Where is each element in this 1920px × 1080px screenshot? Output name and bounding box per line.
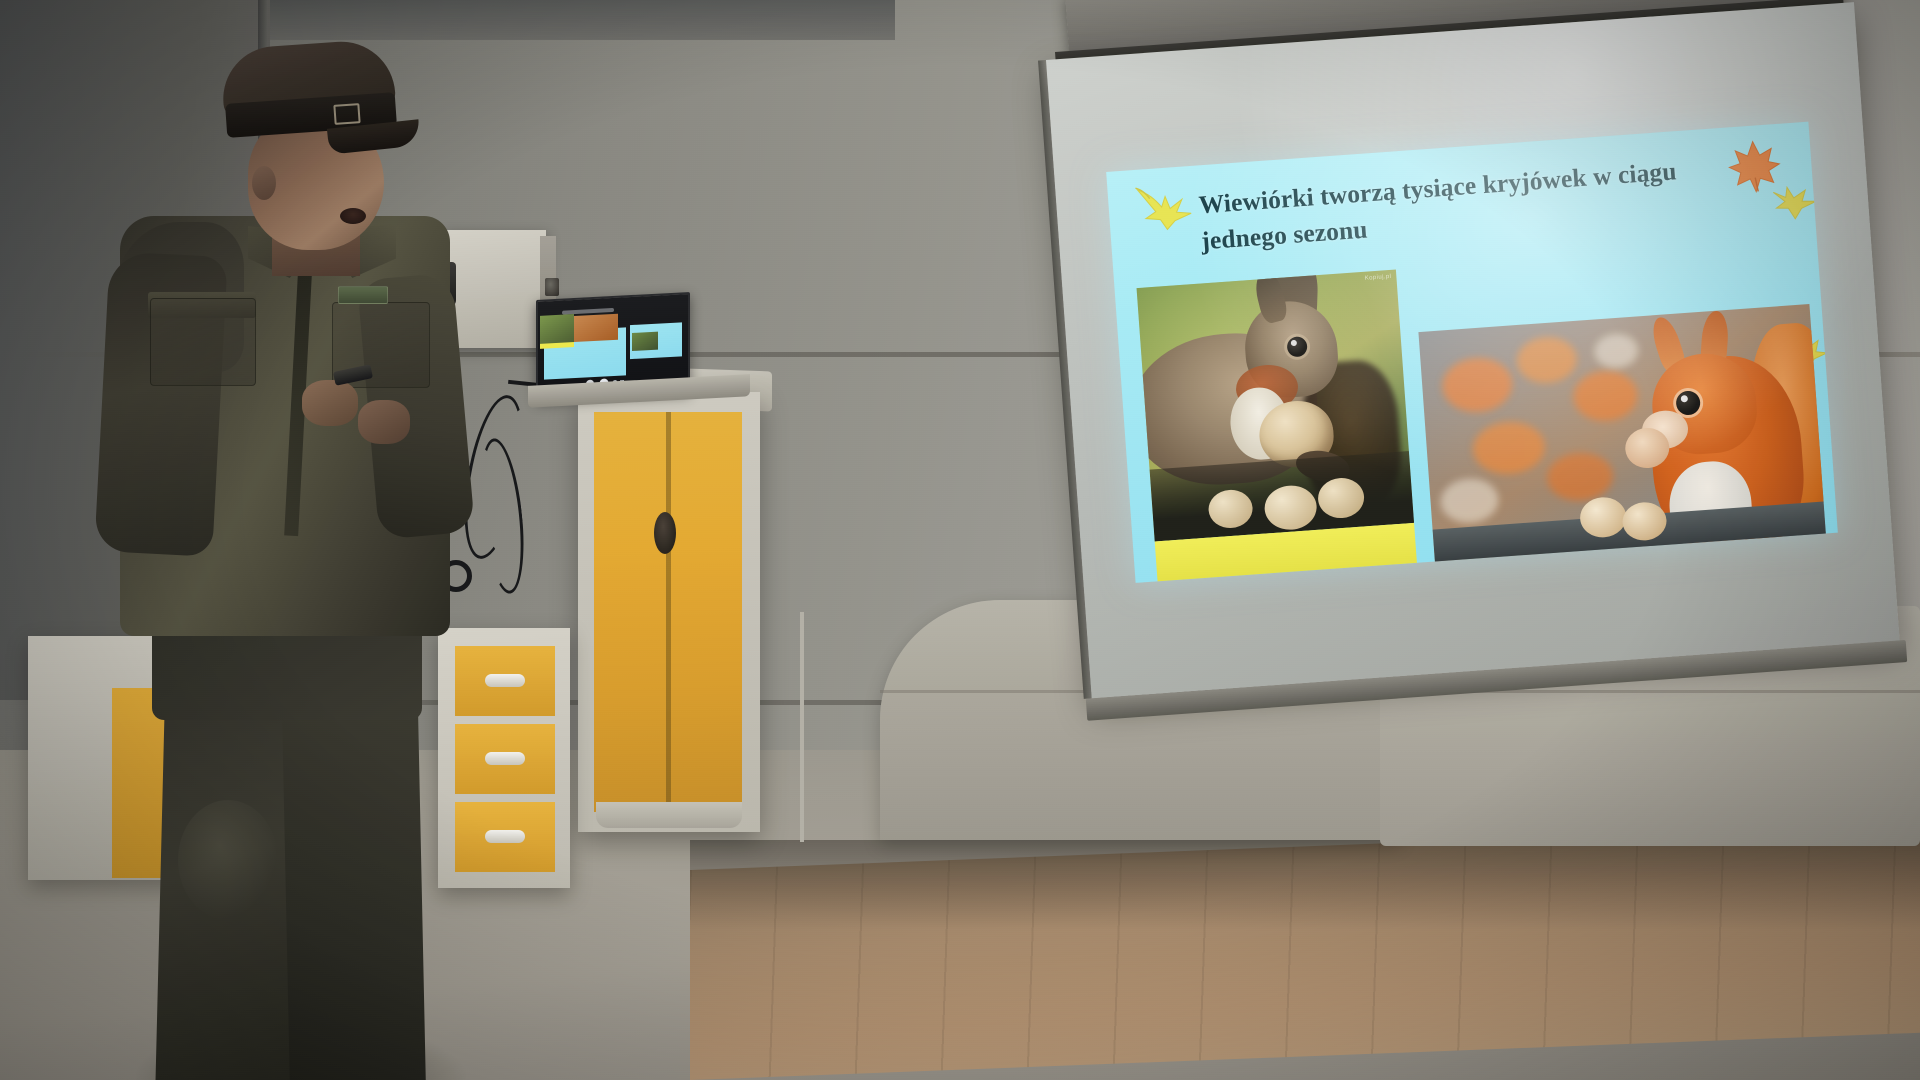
photo2-bokeh-a — [1440, 356, 1514, 415]
laptop-next-slide-photo — [632, 332, 658, 351]
wall-cable-conduit — [800, 612, 974, 842]
photo2-bokeh-d — [1471, 419, 1547, 476]
ceiling-hatch — [255, 0, 895, 40]
slide-photo-red-squirrel-autumn — [1418, 304, 1826, 573]
cabinet-door-gap — [666, 412, 671, 812]
uniform-badge — [338, 286, 388, 304]
photo2-bokeh-b — [1515, 335, 1578, 385]
peaked-cap-buckle — [333, 103, 360, 125]
drawer-handle-middle[interactable] — [485, 752, 525, 765]
drawer-handle-bottom[interactable] — [485, 830, 525, 843]
laptop-slide-photo-1 — [540, 314, 574, 346]
photo2-bokeh-f — [1439, 477, 1500, 525]
drawer-handle-top[interactable] — [485, 674, 525, 687]
wall-socket[interactable] — [545, 278, 559, 296]
photograph-scene: Wiewiórki tworzą tysiące kryjówek w ciąg… — [0, 0, 1920, 1080]
presenter — [96, 40, 476, 1080]
photo2-bokeh-e — [1546, 451, 1615, 504]
presenter-hand-left — [302, 380, 358, 426]
slide-photo-squirrel-with-hazelnut: Kopiuj.pl — [1137, 270, 1414, 542]
photo2-bokeh-c — [1572, 369, 1639, 423]
yellow-leaf-icon — [1133, 180, 1199, 236]
presenter-hand-right — [358, 400, 410, 444]
slide-title: Wiewiórki tworzą tysiące kryjówek w ciąg… — [1198, 146, 1782, 260]
presenter-ear — [252, 166, 276, 200]
presenter-mouth — [340, 208, 366, 224]
laptop-slide-photo-2 — [574, 314, 618, 342]
photo2-bokeh-g — [1593, 332, 1639, 369]
floor-shadow — [690, 840, 1920, 930]
presenter-leg-right — [281, 681, 426, 1080]
projection-screen[interactable]: Wiewiórki tworzą tysiące kryjówek w ciąg… — [1046, 2, 1900, 708]
projected-slide: Wiewiórki tworzą tysiące kryjówek w ciąg… — [1106, 122, 1838, 583]
presenter-pocket-left — [150, 298, 256, 386]
cabinet-knob[interactable] — [654, 512, 676, 554]
cabinet-base — [596, 802, 742, 828]
presenter-trouser-highlight — [178, 800, 278, 920]
